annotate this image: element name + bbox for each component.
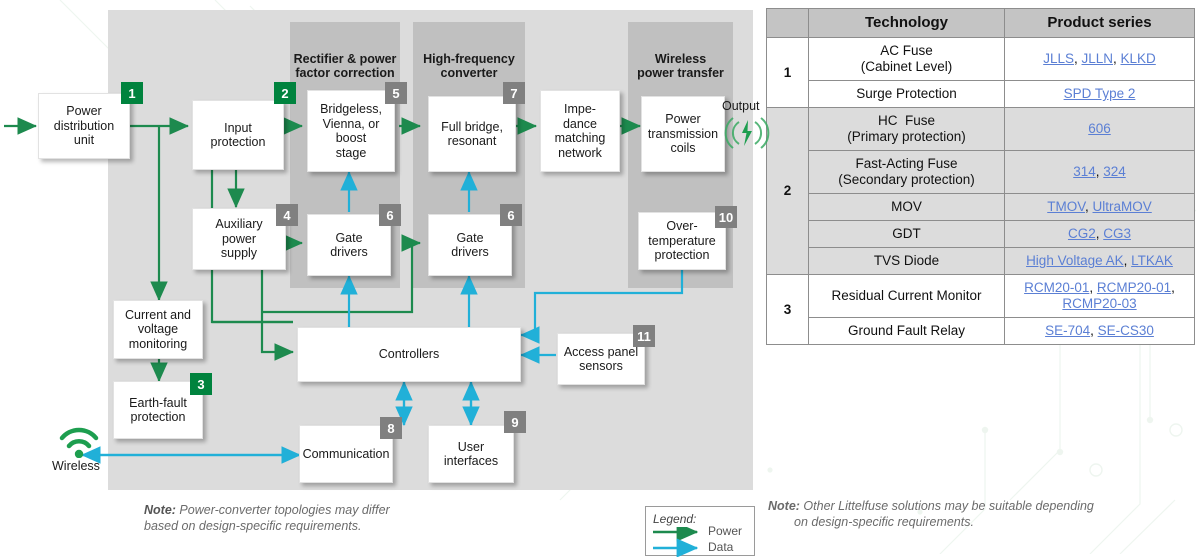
badge-2: 2 bbox=[274, 82, 296, 104]
product-link[interactable]: RCMP20-01 bbox=[1097, 280, 1171, 295]
product-table-wrap: Technology Product series 1AC Fuse(Cabin… bbox=[766, 8, 1194, 553]
product-link[interactable]: LTKAK bbox=[1131, 253, 1173, 268]
wireless-icon bbox=[55, 424, 103, 458]
node-full-bridge-resonant[interactable]: Full bridge,resonant bbox=[428, 96, 516, 172]
node-controllers[interactable]: Controllers bbox=[297, 327, 521, 382]
table-row: Fast-Acting Fuse(Secondary protection)31… bbox=[767, 151, 1195, 194]
node-power-distribution-unit[interactable]: Powerdistributionunit bbox=[38, 93, 130, 159]
technology-cell: Fast-Acting Fuse(Secondary protection) bbox=[809, 151, 1005, 194]
product-series-cell: RCM20-01, RCMP20-01, RCMP20-03 bbox=[1005, 275, 1195, 318]
product-link[interactable]: UltraMOV bbox=[1093, 199, 1152, 214]
output-wireless-burst-icon bbox=[723, 116, 771, 150]
table-row: MOVTMOV, UltraMOV bbox=[767, 194, 1195, 221]
group-number-cell: 1 bbox=[767, 38, 809, 108]
technology-cell: GDT bbox=[809, 221, 1005, 248]
table-row: Surge ProtectionSPD Type 2 bbox=[767, 81, 1195, 108]
table-row: 1AC Fuse(Cabinet Level)JLLS, JLLN, KLKD bbox=[767, 38, 1195, 81]
legend-power-label: Power bbox=[708, 524, 742, 538]
node-label: Current andvoltagemonitoring bbox=[125, 308, 191, 352]
group-number-cell: 2 bbox=[767, 108, 809, 275]
badge-6-a: 6 bbox=[379, 204, 401, 226]
product-link[interactable]: JLLN bbox=[1081, 51, 1113, 66]
technology-cell: Surge Protection bbox=[809, 81, 1005, 108]
product-link[interactable]: SE-CS30 bbox=[1098, 323, 1154, 338]
node-label: Userinterfaces bbox=[444, 440, 498, 469]
legend-data-label: Data bbox=[708, 540, 733, 554]
product-series-cell: CG2, CG3 bbox=[1005, 221, 1195, 248]
product-link[interactable]: TMOV bbox=[1047, 199, 1085, 214]
badge-9: 9 bbox=[504, 411, 526, 433]
node-label: Inputprotection bbox=[211, 121, 266, 150]
node-user-interfaces[interactable]: Userinterfaces bbox=[428, 425, 514, 483]
node-label: Access panelsensors bbox=[564, 345, 638, 374]
table-note-line1: Other Littelfuse solutions may be suitab… bbox=[800, 499, 1094, 513]
technology-cell: AC Fuse(Cabinet Level) bbox=[809, 38, 1005, 81]
legend: Legend: Power Data bbox=[645, 506, 755, 556]
technology-cell: Residual Current Monitor bbox=[809, 275, 1005, 318]
header-product-series: Product series bbox=[1005, 9, 1195, 38]
product-link[interactable]: RCM20-01 bbox=[1024, 280, 1089, 295]
product-link[interactable]: SPD Type 2 bbox=[1064, 86, 1136, 101]
product-link[interactable]: JLLS bbox=[1043, 51, 1074, 66]
technology-cell: TVS Diode bbox=[809, 248, 1005, 275]
badge-10: 10 bbox=[715, 206, 737, 228]
node-impedance-matching-network[interactable]: Impe-dancematchingnetwork bbox=[540, 90, 620, 172]
node-current-voltage-monitoring[interactable]: Current andvoltagemonitoring bbox=[113, 300, 203, 359]
product-link[interactable]: KLKD bbox=[1121, 51, 1156, 66]
product-link[interactable]: High Voltage AK bbox=[1026, 253, 1124, 268]
product-link[interactable]: 314 bbox=[1073, 164, 1096, 179]
product-link[interactable]: SE-704 bbox=[1045, 323, 1090, 338]
technology-cell: Ground Fault Relay bbox=[809, 318, 1005, 345]
badge-3: 3 bbox=[190, 373, 212, 395]
table-row: 3Residual Current MonitorRCM20-01, RCMP2… bbox=[767, 275, 1195, 318]
badge-7: 7 bbox=[503, 82, 525, 104]
wireless-label: Wireless bbox=[52, 459, 100, 473]
table-row: GDTCG2, CG3 bbox=[767, 221, 1195, 248]
output-label: Output bbox=[722, 99, 760, 113]
legend-arrows bbox=[653, 527, 707, 557]
node-label: Impe-dancematchingnetwork bbox=[555, 102, 606, 160]
product-series-cell: 314, 324 bbox=[1005, 151, 1195, 194]
badge-5: 5 bbox=[385, 82, 407, 104]
badge-8: 8 bbox=[380, 417, 402, 439]
table-row: TVS DiodeHigh Voltage AK, LTKAK bbox=[767, 248, 1195, 275]
table-row: 2HC Fuse(Primary protection)606 bbox=[767, 108, 1195, 151]
node-label: Controllers bbox=[379, 347, 439, 362]
node-label: Gatedrivers bbox=[451, 231, 489, 260]
node-auxiliary-power-supply[interactable]: Auxiliarypowersupply bbox=[192, 208, 286, 270]
node-communication[interactable]: Communication bbox=[299, 425, 393, 483]
badge-4: 4 bbox=[276, 204, 298, 226]
node-input-protection[interactable]: Inputprotection bbox=[192, 100, 284, 170]
table-note-prefix: Note: bbox=[768, 499, 800, 513]
technology-cell: HC Fuse(Primary protection) bbox=[809, 108, 1005, 151]
node-label: Auxiliarypowersupply bbox=[215, 217, 262, 261]
product-link[interactable]: RCMP20-03 bbox=[1062, 296, 1136, 311]
badge-6-b: 6 bbox=[500, 204, 522, 226]
node-label: Communication bbox=[303, 447, 390, 462]
table-body: 1AC Fuse(Cabinet Level)JLLS, JLLN, KLKDS… bbox=[767, 38, 1195, 345]
product-series-cell: SPD Type 2 bbox=[1005, 81, 1195, 108]
product-series-cell: TMOV, UltraMOV bbox=[1005, 194, 1195, 221]
node-power-transmission-coils[interactable]: Powertransmissioncoils bbox=[641, 96, 725, 172]
product-series-cell: 606 bbox=[1005, 108, 1195, 151]
product-link[interactable]: 324 bbox=[1103, 164, 1126, 179]
product-series-cell: SE-704, SE-CS30 bbox=[1005, 318, 1195, 345]
header-technology: Technology bbox=[809, 9, 1005, 38]
badge-11: 11 bbox=[633, 325, 655, 347]
technology-cell: MOV bbox=[809, 194, 1005, 221]
page-root: Rectifier & powerfactor correction High-… bbox=[0, 0, 1200, 554]
product-series-cell: JLLS, JLLN, KLKD bbox=[1005, 38, 1195, 81]
block-diagram: Rectifier & powerfactor correction High-… bbox=[0, 0, 760, 554]
product-series-cell: High Voltage AK, LTKAK bbox=[1005, 248, 1195, 275]
badge-1: 1 bbox=[121, 82, 143, 104]
node-label: Gatedrivers bbox=[330, 231, 368, 260]
table-header-row: Technology Product series bbox=[767, 9, 1195, 38]
header-group bbox=[767, 9, 809, 38]
table-row: Ground Fault RelaySE-704, SE-CS30 bbox=[767, 318, 1195, 345]
node-label: Full bridge,resonant bbox=[441, 120, 503, 149]
node-access-panel-sensors[interactable]: Access panelsensors bbox=[557, 333, 645, 385]
node-label: Earth-faultprotection bbox=[129, 396, 187, 425]
node-label: Over-temperatureprotection bbox=[648, 219, 715, 263]
table-note-line2: on design-specific requirements. bbox=[768, 514, 1188, 530]
product-link[interactable]: 606 bbox=[1088, 121, 1111, 136]
legend-title: Legend: bbox=[653, 512, 696, 526]
node-label: Powertransmissioncoils bbox=[648, 112, 718, 156]
node-over-temperature-protection[interactable]: Over-temperatureprotection bbox=[638, 212, 726, 270]
product-link[interactable]: CG3 bbox=[1103, 226, 1131, 241]
node-bridgeless-vienna-boost[interactable]: Bridgeless,Vienna, orbooststage bbox=[307, 90, 395, 172]
product-table: Technology Product series 1AC Fuse(Cabin… bbox=[766, 8, 1195, 345]
product-link[interactable]: CG2 bbox=[1068, 226, 1096, 241]
node-label: Bridgeless,Vienna, orbooststage bbox=[320, 102, 382, 160]
group-number-cell: 3 bbox=[767, 275, 809, 345]
node-label: Powerdistributionunit bbox=[54, 104, 114, 148]
table-note: Note: Other Littelfuse solutions may be … bbox=[768, 498, 1188, 530]
